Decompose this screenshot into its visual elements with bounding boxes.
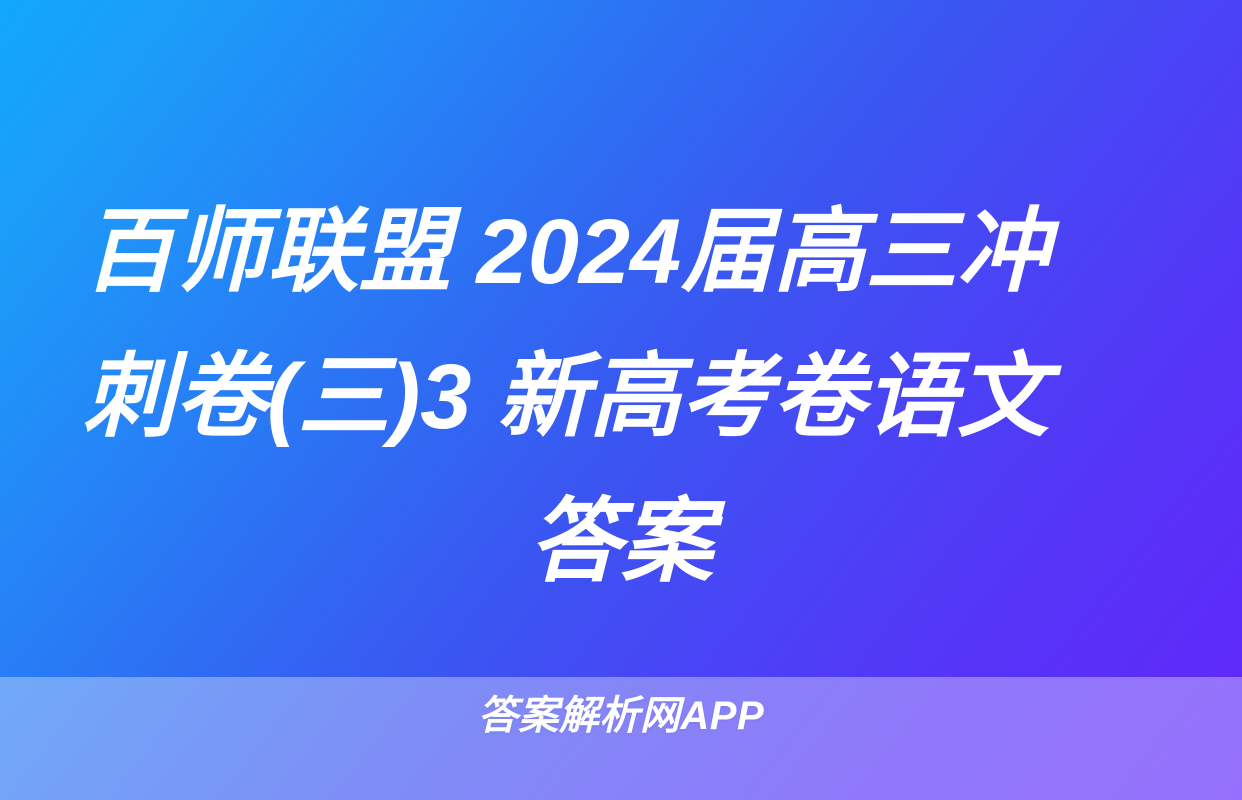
title-line-2: 刺卷(三)3 新高考卷语文 [83,325,1159,470]
title-line-3: 答案 [83,470,1159,615]
poster-canvas: 百师联盟 2024届高三冲 刺卷(三)3 新高考卷语文 答案 答案解析网APP [0,0,1242,800]
watermark-text: 答案解析网APP [478,696,764,736]
page-title: 百师联盟 2024届高三冲 刺卷(三)3 新高考卷语文 答案 [83,180,1159,615]
title-line-1: 百师联盟 2024届高三冲 [83,180,1159,325]
watermark-band: 答案解析网APP [0,677,1242,800]
